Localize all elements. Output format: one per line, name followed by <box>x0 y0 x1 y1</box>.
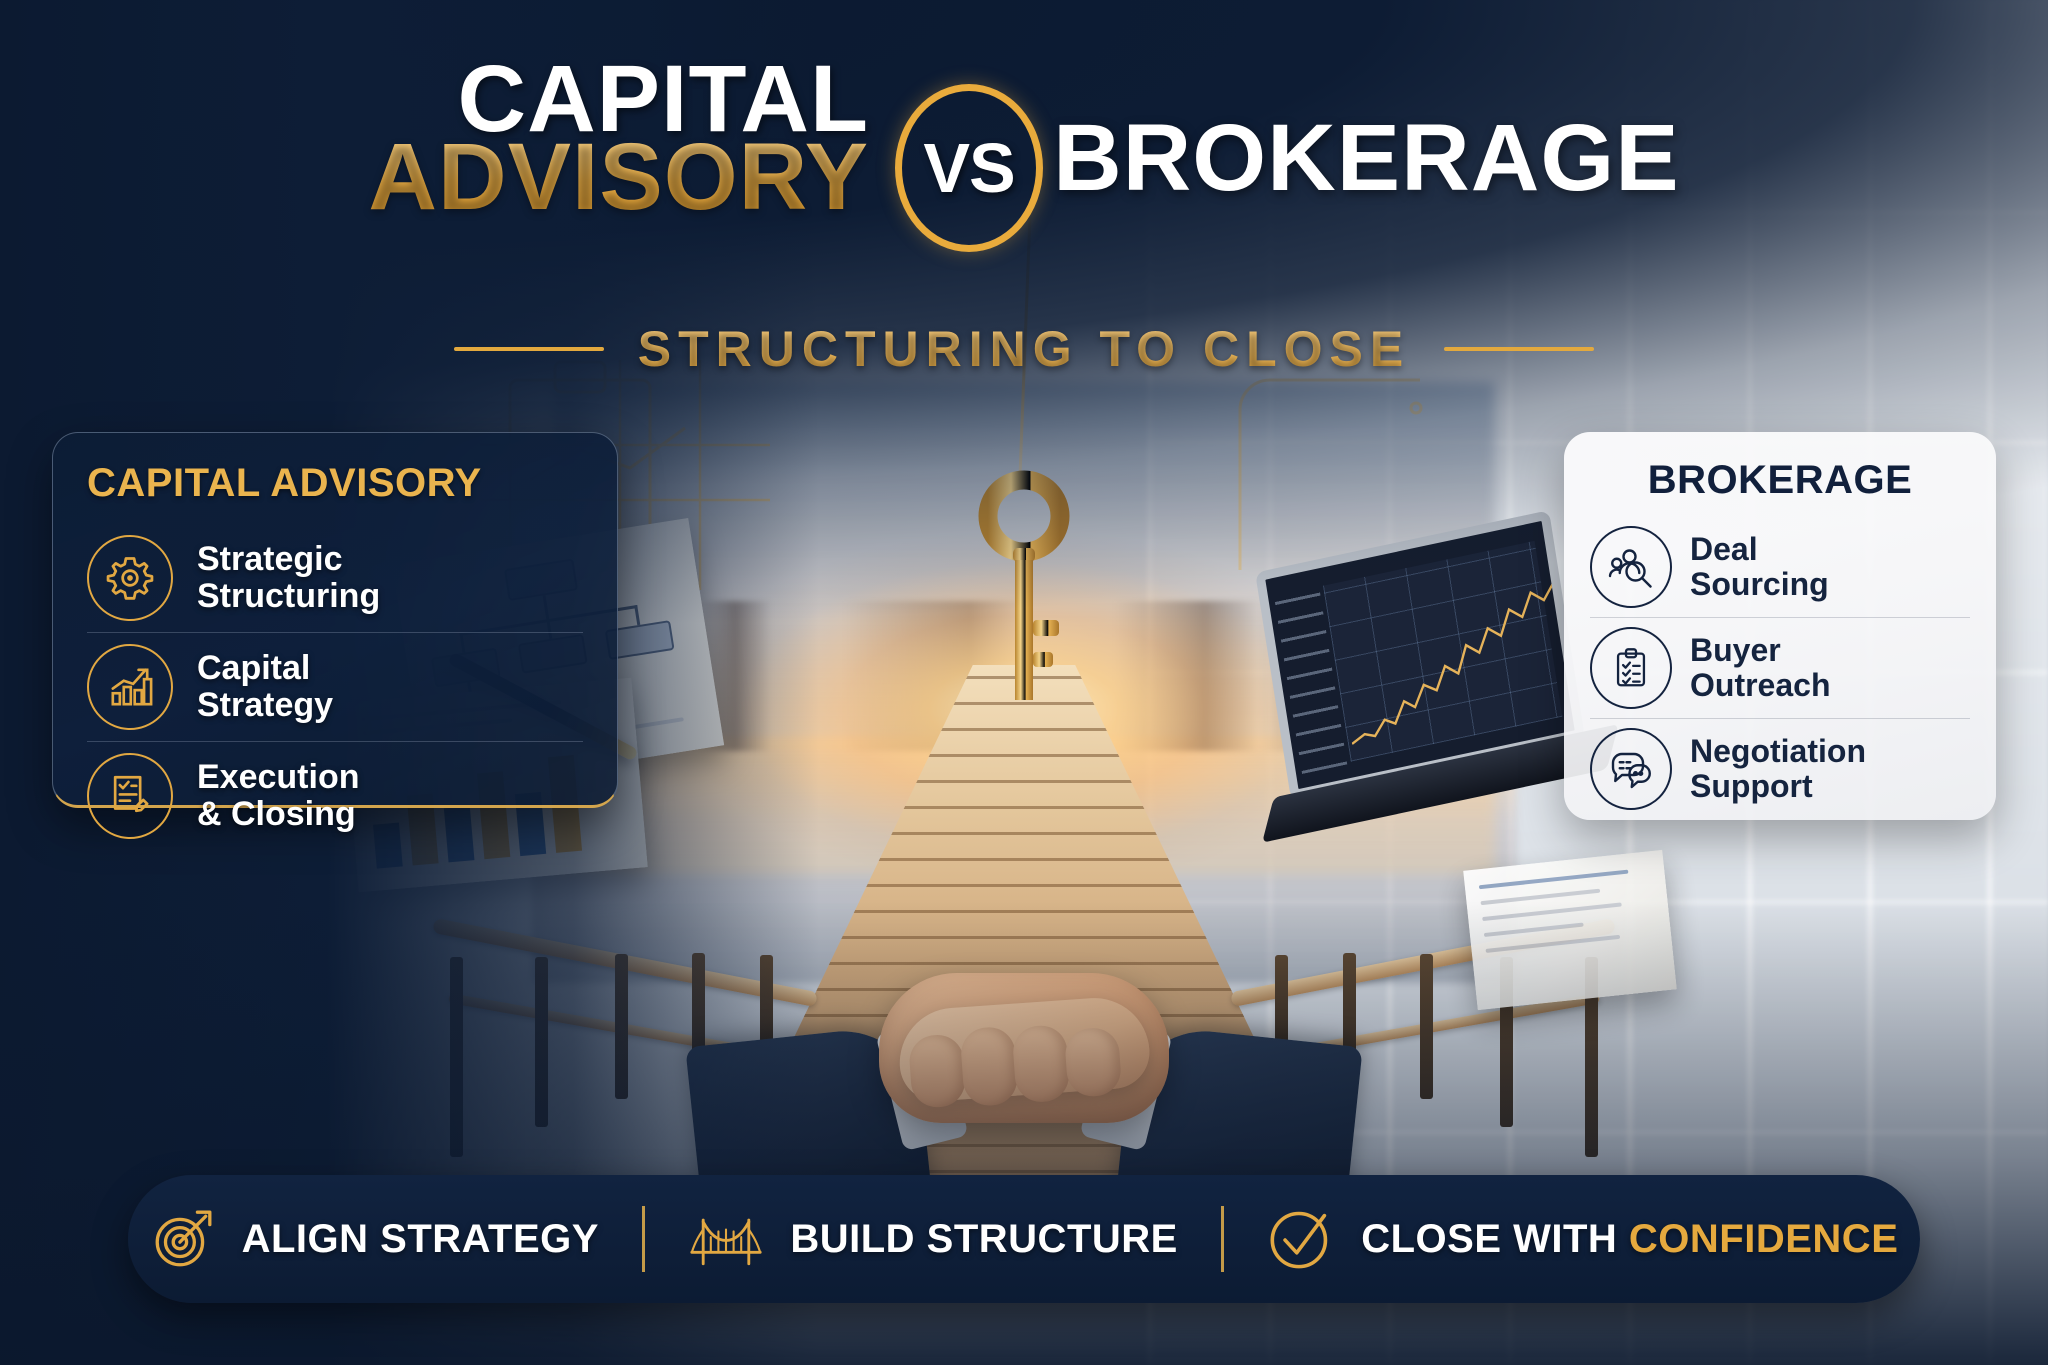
list-item-execution-closing[interactable]: Execution & Closing <box>87 741 583 850</box>
bridge-icon <box>688 1206 764 1272</box>
label-line-2: Structuring <box>197 577 380 615</box>
capital-advisory-list: Strategic Structuring Capital Strategy <box>87 524 583 850</box>
list-item-deal-sourcing[interactable]: Deal Sourcing <box>1590 517 1970 617</box>
bottom-action-bar: ALIGN STRATEGY BUILD STRUCTURE CLOSE WIT… <box>128 1175 1920 1303</box>
list-item-label: Execution & Closing <box>197 759 359 832</box>
brokerage-title: BROKERAGE <box>1590 458 1970 503</box>
vs-label: VS <box>923 128 1014 208</box>
checklist-document-edit-icon <box>87 753 173 839</box>
bar-chart-growth-icon <box>87 644 173 730</box>
capital-advisory-panel: CAPITAL ADVISORY Strategic Structuring <box>52 432 618 808</box>
bottom-separator-2 <box>1221 1206 1224 1272</box>
label-line-2: Support <box>1690 768 1813 804</box>
chat-bubbles-icon <box>1590 728 1672 810</box>
list-item-capital-strategy[interactable]: Capital Strategy <box>87 632 583 741</box>
bottom-item-align-strategy[interactable]: ALIGN STRATEGY <box>150 1206 599 1272</box>
list-item-buyer-outreach[interactable]: Buyer Outreach <box>1590 617 1970 718</box>
bottom-item-close-with-confidence[interactable]: CLOSE WITH CONFIDENCE <box>1267 1205 1898 1273</box>
title-row: CAPITAL ADVISORY VS BROKERAGE <box>0 58 2048 252</box>
label-line-1: Strategic <box>197 540 343 578</box>
label-line-1: Negotiation <box>1690 733 1866 769</box>
subtitle-dash-right <box>1444 347 1594 351</box>
list-item-label: Buyer Outreach <box>1690 633 1830 702</box>
subtitle-row: STRUCTURING TO CLOSE <box>0 320 2048 378</box>
label-line-1: Buyer <box>1690 632 1781 668</box>
bottom-item-label: CLOSE WITH CONFIDENCE <box>1361 1217 1898 1262</box>
title-brokerage: BROKERAGE <box>1053 104 1680 213</box>
bottom-item-label: BUILD STRUCTURE <box>790 1217 1177 1262</box>
list-item-label: Negotiation Support <box>1690 734 1866 803</box>
vs-badge: VS <box>895 84 1043 252</box>
clipboard-checklist-icon <box>1590 627 1672 709</box>
bottom-item-label-highlight: CONFIDENCE <box>1629 1217 1898 1261</box>
list-item-label: Capital Strategy <box>197 650 333 723</box>
label-line-1: Capital <box>197 649 310 687</box>
label-line-2: Sourcing <box>1690 566 1829 602</box>
target-dart-icon <box>150 1206 216 1272</box>
bottom-separator-1 <box>642 1206 645 1272</box>
header: CAPITAL ADVISORY VS BROKERAGE STRUCTURIN… <box>0 0 2048 420</box>
capital-advisory-title: CAPITAL ADVISORY <box>87 461 583 506</box>
gear-icon <box>87 535 173 621</box>
label-line-2: & Closing <box>197 795 356 833</box>
list-item-label: Deal Sourcing <box>1690 532 1829 601</box>
title-left-group: CAPITAL ADVISORY <box>368 58 869 219</box>
brokerage-list: Deal Sourcing Buyer Outreach <box>1590 517 1970 819</box>
label-line-2: Outreach <box>1690 667 1830 703</box>
label-line-2: Strategy <box>197 686 333 724</box>
list-item-label: Strategic Structuring <box>197 541 380 614</box>
list-item-strategic-structuring[interactable]: Strategic Structuring <box>87 524 583 632</box>
brokerage-panel: BROKERAGE Deal Sourcing <box>1564 432 1996 820</box>
check-circle-icon <box>1267 1205 1335 1273</box>
subtitle-text: STRUCTURING TO CLOSE <box>638 320 1410 378</box>
label-line-1: Deal <box>1690 531 1758 567</box>
list-item-negotiation-support[interactable]: Negotiation Support <box>1590 718 1970 819</box>
label-line-1: Execution <box>197 758 359 796</box>
subtitle-dash-left <box>454 347 604 351</box>
bottom-item-label-plain: CLOSE WITH <box>1361 1217 1629 1261</box>
title-advisory: ADVISORY <box>368 136 869 220</box>
bottom-item-build-structure[interactable]: BUILD STRUCTURE <box>688 1206 1177 1272</box>
people-search-icon <box>1590 526 1672 608</box>
bottom-item-label: ALIGN STRATEGY <box>242 1217 599 1262</box>
